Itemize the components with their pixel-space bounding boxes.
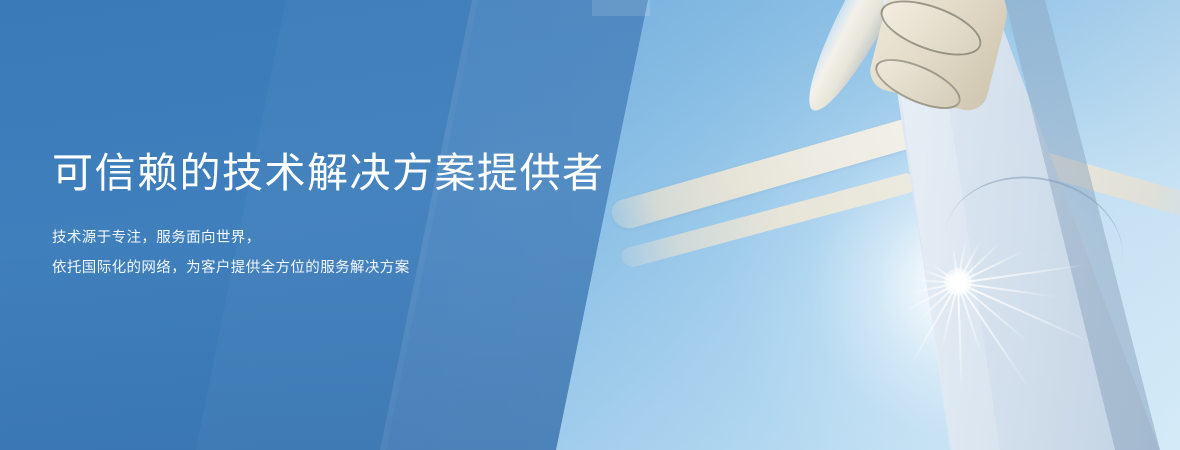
banner-subtitle-line-1: 技术源于专注，服务面向世界，	[52, 223, 612, 253]
banner-subtitle: 技术源于专注，服务面向世界， 依托国际化的网络，为客户提供全方位的服务解决方案	[52, 223, 612, 283]
banner-headline: 可信赖的技术解决方案提供者	[52, 150, 612, 197]
sun-flare-core-icon	[944, 268, 972, 296]
banner-subtitle-line-2: 依托国际化的网络，为客户提供全方位的服务解决方案	[52, 253, 612, 283]
banner-copy: 可信赖的技术解决方案提供者 技术源于专注，服务面向世界， 依托国际化的网络，为客…	[52, 150, 612, 283]
hero-banner: 可信赖的技术解决方案提供者 技术源于专注，服务面向世界， 依托国际化的网络，为客…	[0, 0, 1180, 450]
